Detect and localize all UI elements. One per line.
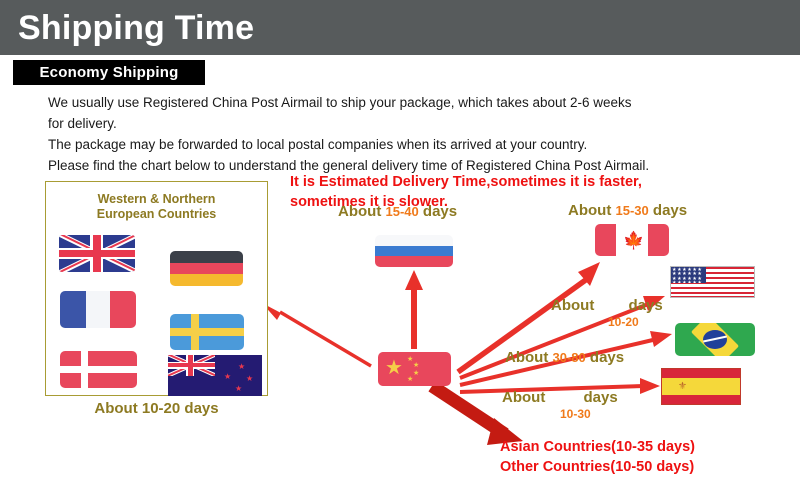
intro-paragraph: We usually use Registered China Post Air… <box>48 92 788 176</box>
spain-about-word: About <box>502 389 545 406</box>
canada-flag: 🍁 <box>595 224 669 256</box>
spain-crest-icon: ⚜ <box>678 382 687 392</box>
usa-about-word: About <box>551 297 594 314</box>
europe-box-title-line-2: European Countries <box>97 207 216 221</box>
sweden-flag <box>170 314 244 350</box>
asian-countries-line: Asian Countries(10-35 days) <box>500 437 695 457</box>
china-small-star-3: ★ <box>413 370 419 377</box>
usa-flag: ★★★★★★★★★★★★★★★★★★★★★★★★ <box>670 266 755 298</box>
arrow-to-russia <box>405 270 423 349</box>
usa-days-word: days <box>629 297 663 314</box>
germany-flag <box>170 251 243 286</box>
canada-days-range: 15-30 <box>616 203 649 218</box>
brazil-flag <box>675 323 755 356</box>
russia-flag <box>375 235 453 267</box>
canada-about-word: About <box>568 202 611 219</box>
spain-days-label: About days <box>502 389 618 406</box>
nz-star-3: ★ <box>246 375 253 383</box>
brazil-about-word: About <box>505 349 548 366</box>
canada-days-word: days <box>653 202 687 219</box>
china-small-star-2: ★ <box>413 362 419 369</box>
nz-star-2: ★ <box>224 373 231 381</box>
europe-delivery-days: About 10-20 days <box>45 400 268 417</box>
china-small-star-4: ★ <box>407 376 413 383</box>
china-flag: ★ ★ ★ ★ ★ <box>378 352 451 386</box>
russia-days-label: About 15-40 days <box>338 203 457 220</box>
usa-days-range: 10-20 <box>608 315 639 329</box>
brazil-days-label: About 30-80 days <box>505 349 624 366</box>
usa-canton: ★★★★★★★★★★★★★★★★★★★★★★★★ <box>671 267 706 283</box>
usa-days-label: About days <box>551 297 663 314</box>
page-title: Shipping Time <box>18 5 254 51</box>
europe-box-title: Western & Northern European Countries <box>45 192 268 222</box>
brazil-days-word: days <box>590 349 624 366</box>
bottom-countries-note: Asian Countries(10-35 days) Other Countr… <box>500 437 695 477</box>
brazil-days-range: 30-80 <box>553 350 586 365</box>
other-countries-line: Other Countries(10-50 days) <box>500 457 695 477</box>
europe-box-title-line-1: Western & Northern <box>98 192 216 206</box>
spain-days-word: days <box>584 389 618 406</box>
spain-days-range: 10-30 <box>560 407 591 421</box>
intro-line-1: We usually use Registered China Post Air… <box>48 92 788 113</box>
arrow-to-europe <box>262 303 371 366</box>
intro-line-3: The package may be forwarded to local po… <box>48 134 788 155</box>
russia-days-range: 15-40 <box>386 204 419 219</box>
nz-star-4: ★ <box>235 385 242 393</box>
intro-line-2: for delivery. <box>48 113 788 134</box>
canada-days-label: About 15-30 days <box>568 202 687 219</box>
nz-star-1: ★ <box>238 363 245 371</box>
china-big-star: ★ <box>385 358 403 378</box>
spain-flag: ⚜ <box>661 368 741 405</box>
united-kingdom-flag <box>59 235 135 272</box>
new-zealand-flag: ★ ★ ★ ★ <box>168 355 262 396</box>
estimate-note-line-1: It is Estimated Delivery Time,sometimes … <box>290 172 790 192</box>
france-flag <box>60 291 136 328</box>
section-label-economy-shipping: Economy Shipping <box>13 60 205 85</box>
maple-leaf-icon: 🍁 <box>623 232 644 249</box>
russia-days-word: days <box>423 203 457 220</box>
russia-about-word: About <box>338 203 381 220</box>
denmark-flag <box>60 351 137 388</box>
